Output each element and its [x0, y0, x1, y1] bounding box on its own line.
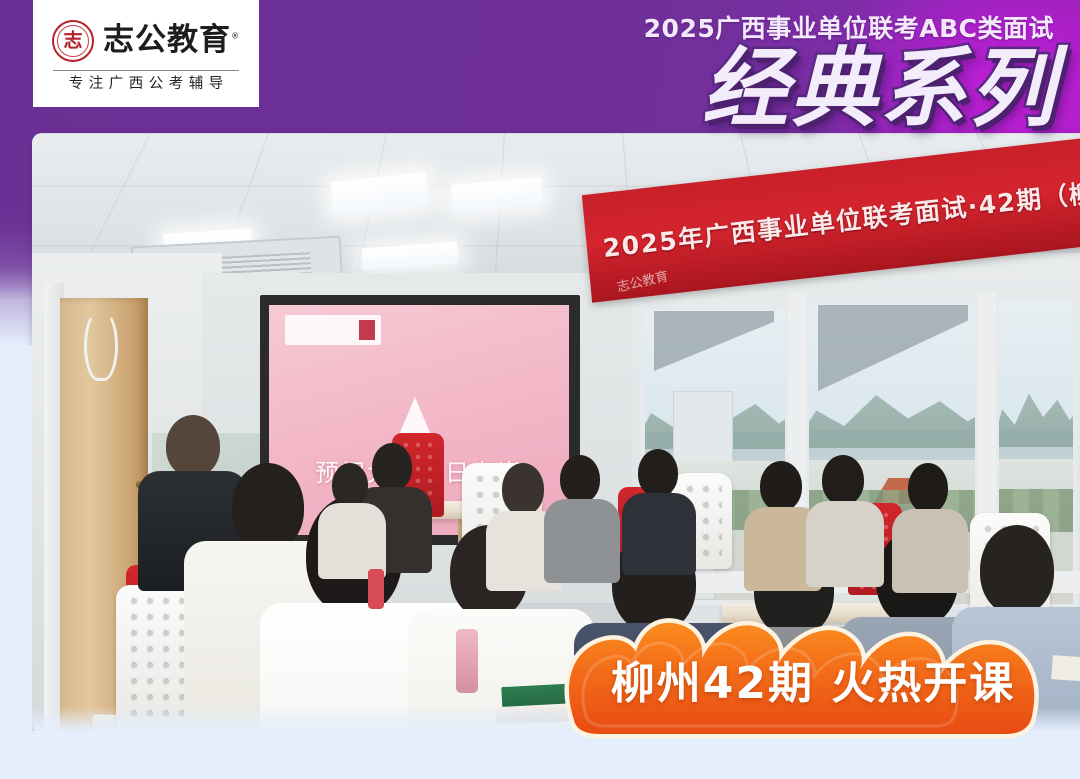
student-head	[980, 525, 1054, 615]
promo-banner[interactable]: 柳州42期 火热开课	[556, 612, 1076, 740]
student-body	[318, 503, 386, 579]
logo-divider	[53, 70, 239, 71]
brand-logo-row: 志 志公教育®	[52, 20, 240, 62]
student-body	[622, 493, 696, 575]
wall-banner-brand: 志公教育	[615, 265, 670, 295]
brand-name: 志公教育®	[103, 25, 240, 56]
header-headline: 经典系列	[702, 46, 1058, 132]
student-head	[332, 463, 368, 507]
wall-cable	[84, 311, 118, 381]
student-body	[892, 509, 968, 593]
student-head	[372, 443, 412, 491]
student-body	[806, 501, 884, 587]
student-head	[502, 463, 544, 515]
seal-character: 志	[63, 32, 82, 51]
promo-poster: 志 志公教育® 专注广西公考辅导 2025广西事业单位联考ABC类面试 经典系列	[0, 0, 1080, 779]
brand-name-text: 志公教育	[103, 22, 231, 58]
student-head	[908, 463, 948, 513]
registered-mark: ®	[231, 32, 240, 41]
student-head	[166, 415, 220, 477]
left-purple-rail	[0, 0, 34, 345]
thermos	[456, 629, 478, 693]
student-head	[560, 455, 600, 503]
promo-banner-text: 柳州42期 火热开课	[556, 662, 1070, 706]
brand-tagline: 专注广西公考辅导	[63, 77, 229, 92]
screen-logo	[285, 315, 381, 345]
student-head	[760, 461, 802, 511]
header-kicker: 2025广西事业单位联考ABC类面试	[644, 16, 1054, 41]
brand-logo-plate: 志 志公教育® 专注广西公考辅导	[33, 0, 259, 107]
cup	[368, 569, 384, 609]
student-head	[232, 463, 304, 551]
left-bottom-strip	[0, 345, 32, 779]
sailboat-icon	[399, 397, 431, 435]
company-seal-icon: 志	[52, 20, 94, 62]
student-head	[822, 455, 864, 505]
student-body	[544, 499, 620, 583]
student-head	[638, 449, 678, 497]
